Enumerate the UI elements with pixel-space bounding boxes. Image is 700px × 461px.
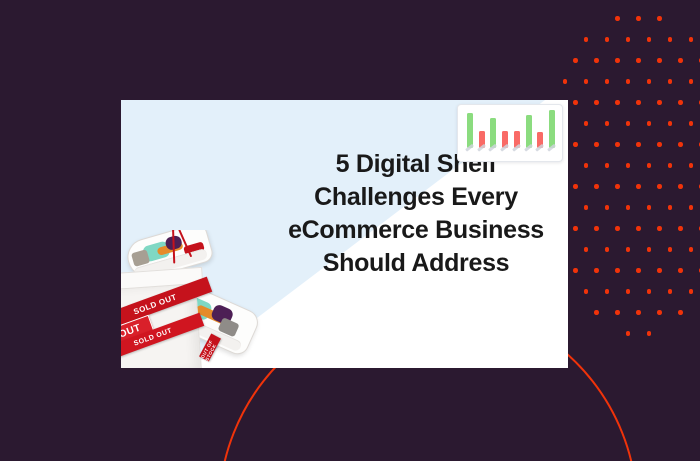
decorative-dot: [584, 247, 589, 252]
decorative-dot: [615, 100, 620, 105]
decorative-dot: [605, 247, 610, 252]
decorative-dot: [647, 79, 652, 84]
decorative-dot: [689, 37, 694, 42]
decorative-dot: [678, 268, 683, 273]
decorative-dot: [657, 184, 662, 189]
decorative-dot: [636, 226, 641, 231]
decorative-dot: [626, 205, 631, 210]
decorative-dot: [615, 310, 620, 315]
decorative-dot: [689, 163, 694, 168]
decorative-dot: [678, 58, 683, 63]
decorative-dot: [678, 100, 683, 105]
decorative-dot: [657, 226, 662, 231]
decorative-dot: [657, 16, 662, 21]
decorative-dot: [636, 100, 641, 105]
decorative-dot: [647, 121, 652, 126]
thumbnail-canvas: SOLD OUT OUT SOLD OUT OUT OF STOCK 5 Dig…: [0, 0, 700, 461]
decorative-dot: [615, 142, 620, 147]
decorative-dot: [584, 121, 589, 126]
decorative-dot: [657, 58, 662, 63]
decorative-dot: [584, 79, 589, 84]
decorative-dot: [689, 79, 694, 84]
decorative-dot: [573, 226, 578, 231]
decorative-dot: [647, 247, 652, 252]
decorative-dot: [626, 289, 631, 294]
decorative-dot: [668, 247, 673, 252]
decorative-dot: [605, 289, 610, 294]
decorative-dot: [626, 79, 631, 84]
decorative-dot: [678, 226, 683, 231]
decorative-dot: [594, 268, 599, 273]
decorative-dot: [657, 310, 662, 315]
decorative-dot: [636, 268, 641, 273]
decorative-dot: [636, 184, 641, 189]
decorative-dot: [573, 142, 578, 147]
blog-thumbnail-card: SOLD OUT OUT SOLD OUT OUT OF STOCK 5 Dig…: [121, 100, 568, 368]
page-title: 5 Digital Shelf Challenges Every eCommer…: [271, 148, 561, 280]
decorative-dot: [689, 205, 694, 210]
decorative-dot: [678, 142, 683, 147]
halftone-dot-cluster: [552, 16, 700, 328]
decorative-dot: [584, 37, 589, 42]
product-photo-sneakers: SOLD OUT OUT SOLD OUT OUT OF STOCK: [121, 230, 263, 368]
decorative-dot: [626, 163, 631, 168]
decorative-dot: [615, 268, 620, 273]
analytics-bar-chart-widget: [457, 104, 563, 162]
decorative-dot: [636, 16, 641, 21]
decorative-dot: [615, 58, 620, 63]
decorative-dot: [594, 310, 599, 315]
decorative-dot: [563, 79, 568, 84]
decorative-dot: [626, 37, 631, 42]
decorative-dot: [636, 310, 641, 315]
decorative-dot: [647, 37, 652, 42]
decorative-dot: [626, 331, 631, 336]
decorative-dot: [594, 100, 599, 105]
decorative-dot: [605, 37, 610, 42]
decorative-dot: [636, 58, 641, 63]
decorative-dot: [615, 184, 620, 189]
decorative-dot: [584, 205, 589, 210]
decorative-dot: [689, 289, 694, 294]
decorative-dot: [573, 58, 578, 63]
decorative-dot: [573, 184, 578, 189]
decorative-dot: [605, 205, 610, 210]
decorative-dot: [573, 268, 578, 273]
decorative-dot: [689, 121, 694, 126]
decorative-dot: [594, 58, 599, 63]
chart-x-axis-labels: [464, 148, 556, 158]
decorative-dot: [678, 310, 683, 315]
decorative-dot: [657, 100, 662, 105]
decorative-dot: [647, 163, 652, 168]
decorative-dot: [668, 163, 673, 168]
decorative-dot: [584, 289, 589, 294]
decorative-dot: [647, 331, 652, 336]
decorative-dot: [657, 268, 662, 273]
chart-plot-area: [464, 110, 556, 148]
decorative-dot: [615, 16, 620, 21]
decorative-dot: [584, 163, 589, 168]
decorative-dot: [647, 289, 652, 294]
decorative-dot: [636, 142, 641, 147]
decorative-dot: [668, 79, 673, 84]
decorative-dot: [657, 142, 662, 147]
decorative-dot: [678, 184, 683, 189]
decorative-dot: [668, 121, 673, 126]
decorative-dot: [594, 142, 599, 147]
decorative-dot: [647, 205, 652, 210]
decorative-dot: [668, 37, 673, 42]
decorative-dot: [594, 226, 599, 231]
decorative-dot: [689, 247, 694, 252]
decorative-dot: [668, 289, 673, 294]
decorative-dot: [626, 247, 631, 252]
decorative-dot: [605, 163, 610, 168]
decorative-dot: [615, 226, 620, 231]
decorative-dot: [605, 79, 610, 84]
decorative-dot: [668, 205, 673, 210]
decorative-dot: [573, 100, 578, 105]
decorative-dot: [605, 121, 610, 126]
decorative-dot: [594, 184, 599, 189]
decorative-dot: [626, 121, 631, 126]
